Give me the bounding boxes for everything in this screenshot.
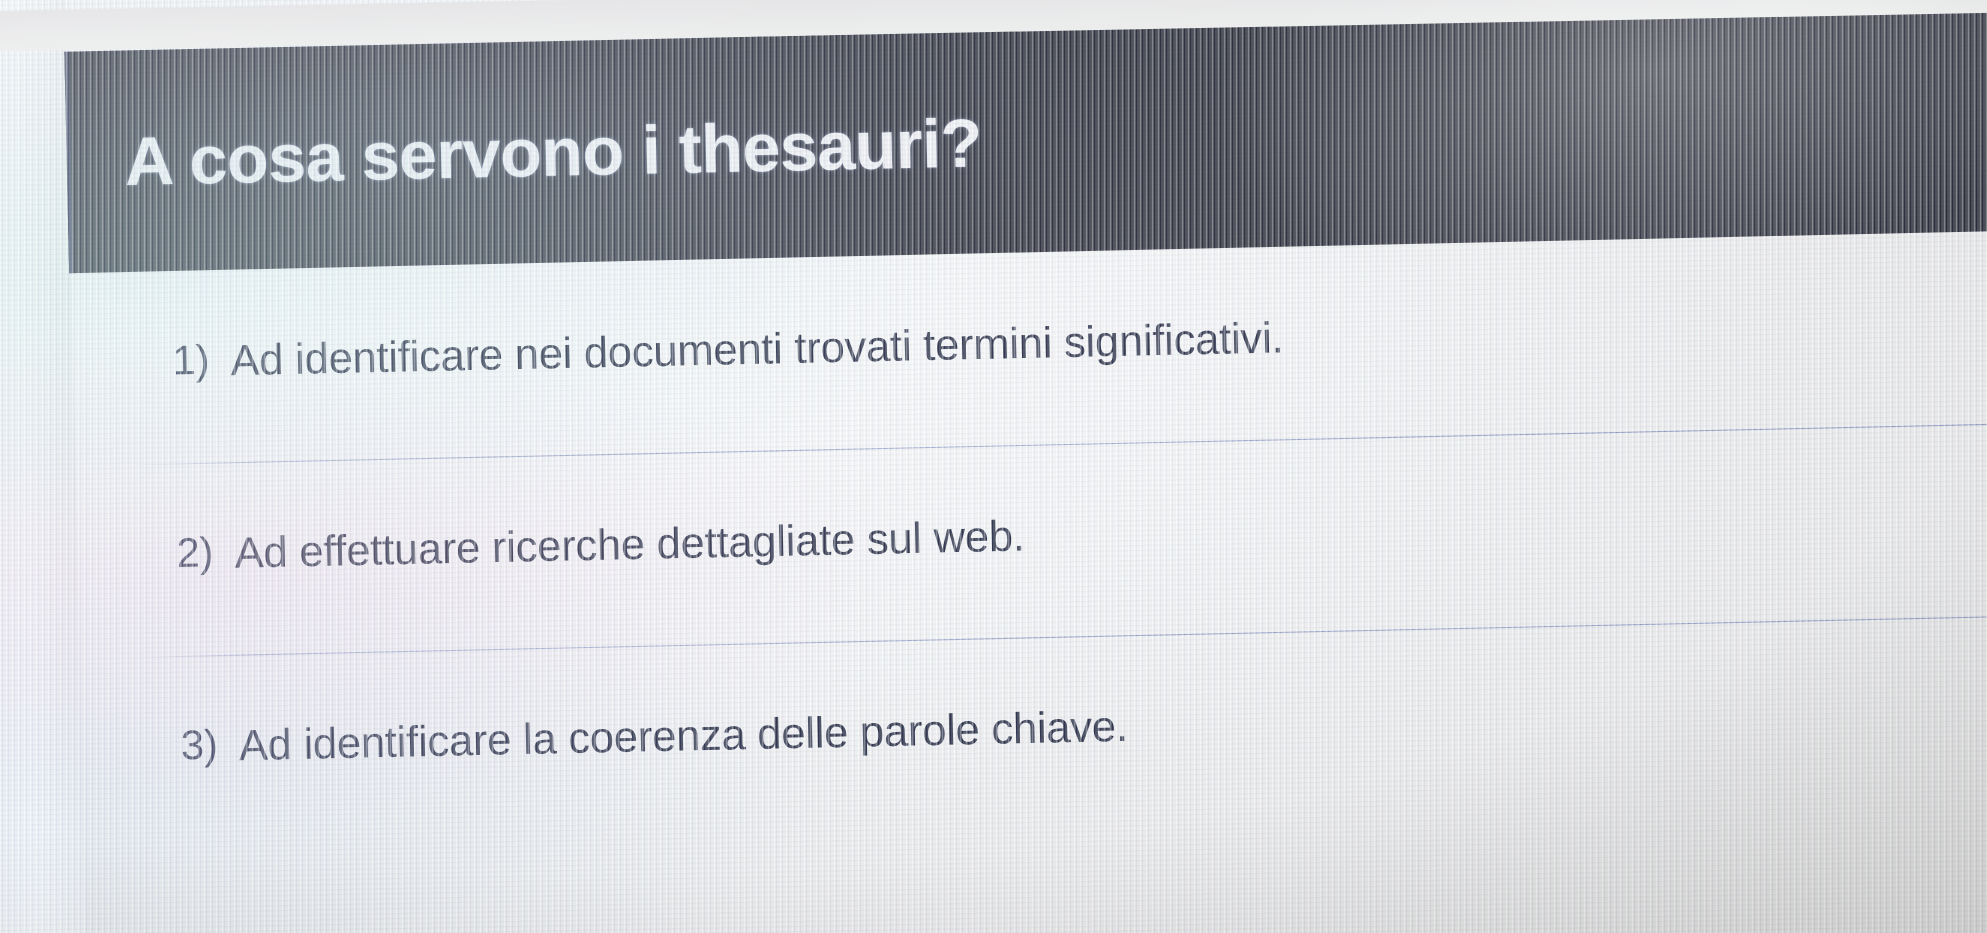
quiz-page: A cosa servono i thesauri? 1) Ad identif… xyxy=(0,0,1987,933)
screen-photo: A cosa servono i thesauri? 1) Ad identif… xyxy=(0,0,1987,933)
answer-text-2: Ad effettuare ricerche dettagliate sul w… xyxy=(234,487,1987,580)
answer-option-3[interactable]: 3) Ad identificare la coerenza delle par… xyxy=(80,616,1987,851)
question-header-bar: A cosa servono i thesauri? xyxy=(64,8,1987,274)
answer-number-3: 3) xyxy=(81,719,239,774)
answer-number-1: 1) xyxy=(73,334,231,389)
answer-text-3: Ad identificare la coerenza delle parole… xyxy=(238,680,1987,773)
answer-number-2: 2) xyxy=(77,526,235,581)
answer-options-list: 1) Ad identificare nei documenti trovati… xyxy=(71,231,1987,851)
answer-text-1: Ad identificare nei documenti trovati te… xyxy=(230,295,1987,388)
question-title: A cosa servono i thesauri? xyxy=(124,103,983,200)
